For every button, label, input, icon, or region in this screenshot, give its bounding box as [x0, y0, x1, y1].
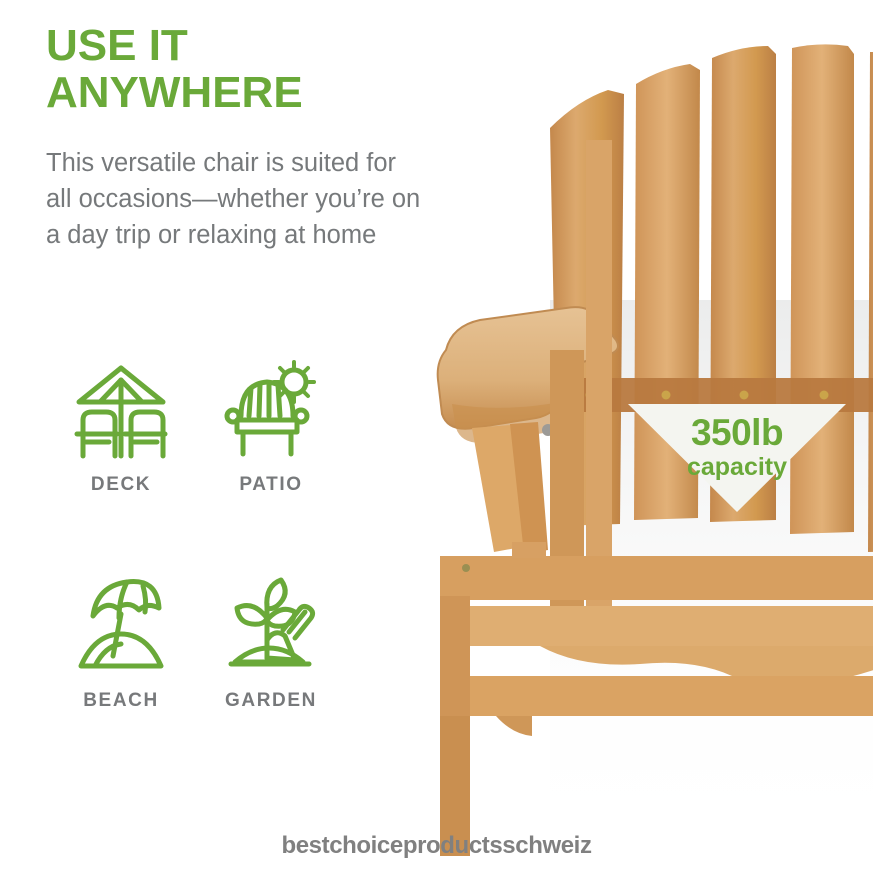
feature-label-garden: GARDEN [225, 690, 317, 712]
feature-label-beach: BEACH [83, 690, 159, 712]
footer-watermark: bestchoiceproductsschweiz [0, 832, 873, 860]
feature-icon-grid: DECK [46, 358, 346, 712]
feature-label-deck: DECK [91, 474, 151, 496]
feature-item-beach: BEACH [46, 574, 196, 712]
page-description: This versatile chair is suited for all o… [46, 145, 516, 254]
beach-umbrella-sand-icon [73, 574, 169, 678]
feature-item-deck: DECK [46, 358, 196, 496]
patio-adirondack-chair-sun-icon [223, 358, 319, 462]
page-title: USE IT ANYWHERE [46, 22, 466, 116]
capacity-badge: 350lb capacity [628, 404, 846, 512]
garden-plant-trowel-icon [223, 574, 319, 678]
feature-item-patio: PATIO [196, 358, 346, 496]
badge-triangle-shape [628, 404, 846, 512]
feature-label-patio: PATIO [239, 474, 302, 496]
deck-umbrella-chairs-icon [73, 358, 169, 462]
feature-item-garden: GARDEN [196, 574, 346, 712]
product-infographic: 350lb capacity USE IT ANYWHERE This vers… [0, 0, 873, 873]
